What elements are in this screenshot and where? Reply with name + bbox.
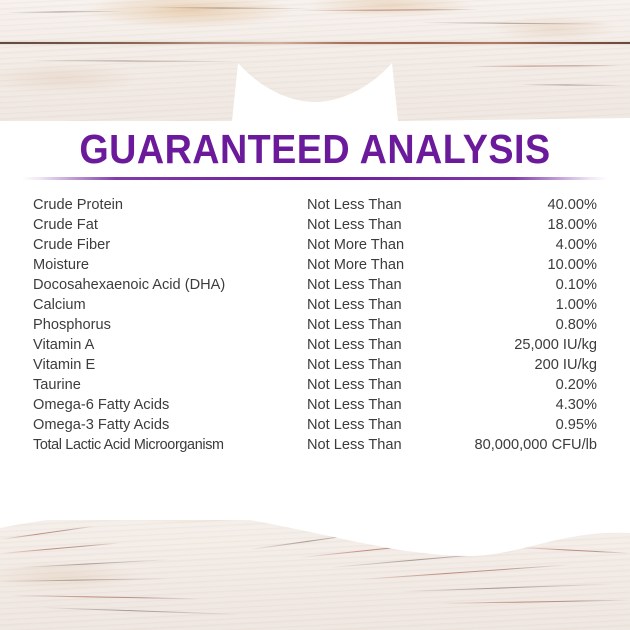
guaranteed-analysis-card: GUARANTEED ANALYSIS Crude ProteinNot Les… bbox=[0, 0, 630, 630]
table-row: Vitamin ANot Less Than25,000 IU/kg bbox=[33, 335, 597, 355]
nutrient-qualifier: Not Less Than bbox=[307, 315, 467, 335]
title-divider bbox=[22, 177, 608, 180]
table-row: PhosphorusNot Less Than0.80% bbox=[33, 315, 597, 335]
nutrient-name: Moisture bbox=[33, 255, 307, 275]
nutrient-qualifier: Not Less Than bbox=[307, 355, 467, 375]
nutrient-qualifier: Not Less Than bbox=[307, 295, 467, 315]
table-row: Crude FatNot Less Than18.00% bbox=[33, 215, 597, 235]
nutrient-value: 18.00% bbox=[467, 215, 597, 235]
table-row: Docosahexaenoic Acid (DHA)Not Less Than0… bbox=[33, 275, 597, 295]
nutrient-qualifier: Not Less Than bbox=[307, 435, 467, 455]
nutrient-qualifier: Not Less Than bbox=[307, 415, 467, 435]
nutrient-name: Calcium bbox=[33, 295, 307, 315]
table-row: Crude FiberNot More Than4.00% bbox=[33, 235, 597, 255]
nutrient-name: Vitamin A bbox=[33, 335, 307, 355]
table-row: Total Lactic Acid MicroorganismNot Less … bbox=[33, 435, 597, 455]
nutrient-value: 1.00% bbox=[467, 295, 597, 315]
nutrient-value: 25,000 IU/kg bbox=[467, 335, 597, 355]
nutrient-name: Docosahexaenoic Acid (DHA) bbox=[33, 275, 307, 295]
table-row: Omega-3 Fatty AcidsNot Less Than0.95% bbox=[33, 415, 597, 435]
nutrient-name: Phosphorus bbox=[33, 315, 307, 335]
nutrient-value: 200 IU/kg bbox=[467, 355, 597, 375]
table-row: Crude ProteinNot Less Than40.00% bbox=[33, 195, 597, 215]
nutrient-name: Crude Fiber bbox=[33, 235, 307, 255]
table-body: Crude ProteinNot Less Than40.00%Crude Fa… bbox=[33, 195, 597, 455]
nutrient-value: 0.80% bbox=[467, 315, 597, 335]
nutrient-qualifier: Not More Than bbox=[307, 255, 467, 275]
nutrient-name: Taurine bbox=[33, 375, 307, 395]
nutrient-qualifier: Not Less Than bbox=[307, 215, 467, 235]
table-row: Omega-6 Fatty AcidsNot Less Than4.30% bbox=[33, 395, 597, 415]
table-row: TaurineNot Less Than0.20% bbox=[33, 375, 597, 395]
nutrient-value: 4.00% bbox=[467, 235, 597, 255]
nutrient-qualifier: Not Less Than bbox=[307, 395, 467, 415]
nutrient-name: Omega-6 Fatty Acids bbox=[33, 395, 307, 415]
table-row: Vitamin ENot Less Than200 IU/kg bbox=[33, 355, 597, 375]
nutrient-qualifier: Not Less Than bbox=[307, 335, 467, 355]
nutrient-qualifier: Not More Than bbox=[307, 235, 467, 255]
table-row: MoistureNot More Than10.00% bbox=[33, 255, 597, 275]
guaranteed-analysis-table: Crude ProteinNot Less Than40.00%Crude Fa… bbox=[33, 195, 597, 455]
nutrient-value: 80,000,000 CFU/lb bbox=[467, 435, 597, 455]
nutrient-name: Vitamin E bbox=[33, 355, 307, 375]
nutrient-value: 4.30% bbox=[467, 395, 597, 415]
nutrient-qualifier: Not Less Than bbox=[307, 275, 467, 295]
nutrient-qualifier: Not Less Than bbox=[307, 195, 467, 215]
nutrient-qualifier: Not Less Than bbox=[307, 375, 467, 395]
nutrient-value: 0.10% bbox=[467, 275, 597, 295]
nutrient-value: 0.20% bbox=[467, 375, 597, 395]
nutrient-name: Total Lactic Acid Microorganism bbox=[33, 435, 307, 455]
page-title: GUARANTEED ANALYSIS bbox=[25, 127, 605, 171]
nutrient-value: 0.95% bbox=[467, 415, 597, 435]
nutrient-value: 40.00% bbox=[467, 195, 597, 215]
nutrient-name: Omega-3 Fatty Acids bbox=[33, 415, 307, 435]
wave-divider-mask bbox=[0, 490, 630, 580]
nutrient-name: Crude Fat bbox=[33, 215, 307, 235]
nutrient-name: Crude Protein bbox=[33, 195, 307, 215]
nutrient-value: 10.00% bbox=[467, 255, 597, 275]
table-row: CalciumNot Less Than1.00% bbox=[33, 295, 597, 315]
